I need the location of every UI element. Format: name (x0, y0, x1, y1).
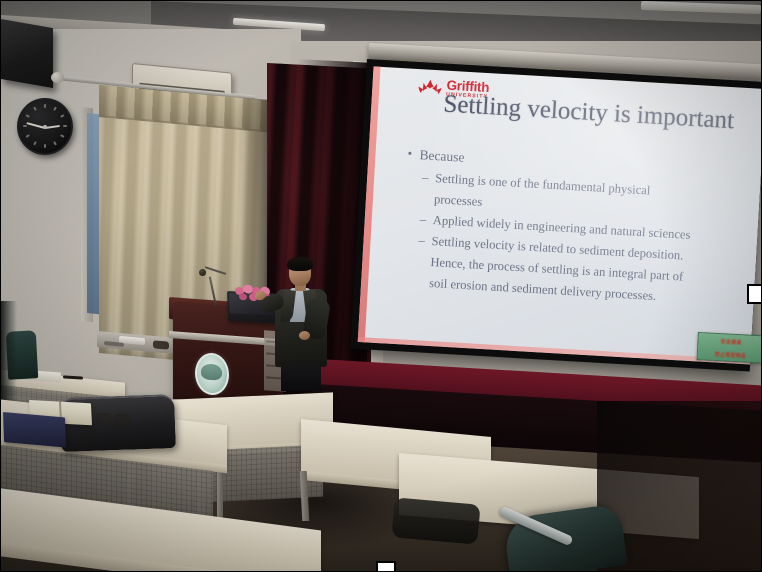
presenter-legs (281, 363, 321, 391)
projected-slide: Griffith UNIVERSITY Settling velocity is… (358, 66, 762, 364)
chair-dark-right (391, 497, 480, 544)
lecture-hall-photo: Griffith UNIVERSITY Settling velocity is… (0, 0, 762, 572)
eyeglasses-icon (97, 414, 130, 426)
wall-clock-icon (17, 98, 73, 155)
cursor-marker-right[interactable] (747, 284, 762, 304)
green-sign-line2: 禁止堆放物品 (698, 346, 762, 362)
microphone-head-icon (199, 269, 206, 276)
blue-folder (3, 412, 66, 448)
podium-emblem (195, 352, 229, 396)
slide-title: Settling velocity is important (443, 91, 735, 136)
green-notice-sign: 安全通道 禁止堆放物品 (697, 332, 762, 363)
griffith-flame-icon (416, 78, 444, 97)
presenter (263, 259, 335, 387)
sill-dark-object (153, 340, 169, 349)
cursor-marker-bottom[interactable] (376, 561, 396, 572)
presenter-hair (287, 257, 313, 271)
presenter-hand-right (299, 331, 310, 340)
curtain-rod-finial (51, 72, 64, 83)
slide-body: Because Settling is one of the fundament… (398, 146, 736, 314)
clock-hour-hand (45, 124, 60, 128)
projection-screen-frame: Griffith UNIVERSITY Settling velocity is… (350, 59, 762, 372)
ceiling-speaker-icon (1, 19, 53, 88)
left-shadow (1, 301, 17, 411)
